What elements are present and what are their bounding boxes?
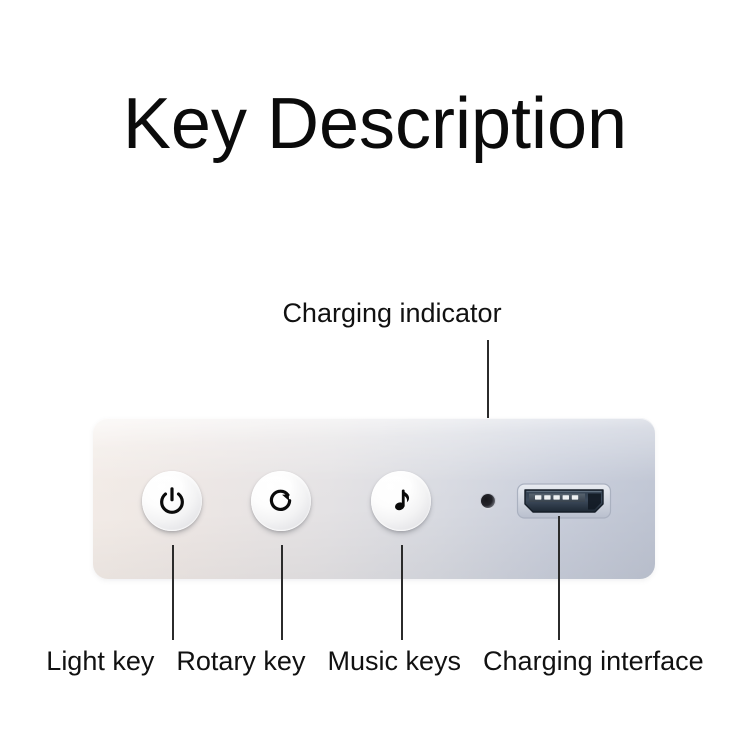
callout-charging-indicator-label: Charging indicator [282,297,501,329]
power-icon [157,486,187,516]
leader-line-light-key [172,545,174,640]
callout-light-key-label: Light key [46,645,154,677]
callout-rotary-key-label: Rotary key [176,645,305,677]
micro-usb-icon [516,481,612,521]
rotary-key-button[interactable] [251,471,311,531]
light-key-button[interactable] [142,471,202,531]
leader-line-rotary-key [281,545,283,640]
music-note-icon [386,486,416,516]
music-keys-button[interactable] [371,471,431,531]
leader-line-charging-interface [558,516,560,640]
callout-charging-interface-label: Charging interface [483,645,704,677]
callout-charging-indicator: Charging indicator [0,297,750,329]
callout-music-keys-label: Music keys [327,645,461,677]
rotate-arrow-icon [266,486,297,517]
leader-line-music-keys [401,545,403,640]
page-title: Key Description [0,84,750,164]
led-dot-icon [481,494,495,508]
callout-label-row: Light key Rotary key Music keys Charging… [0,645,750,677]
